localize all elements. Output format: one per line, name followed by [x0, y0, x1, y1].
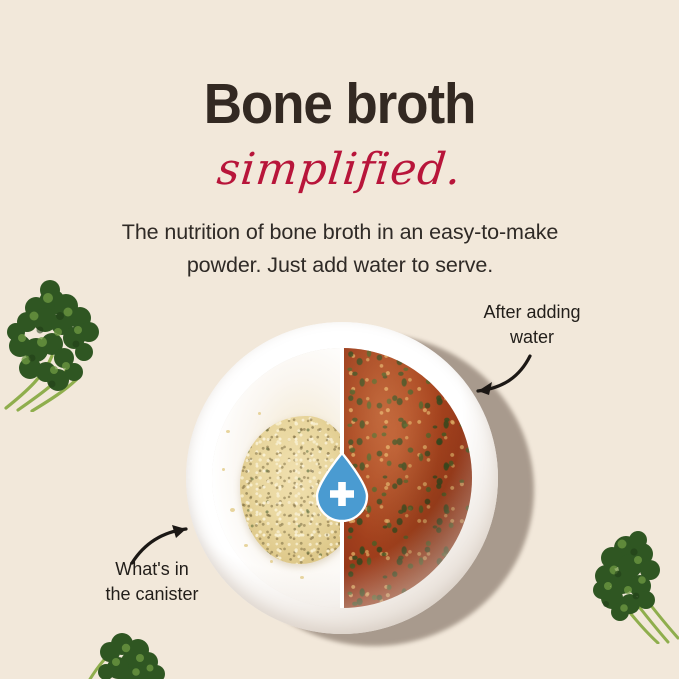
- curved-arrow-up-right-icon: [128, 522, 204, 568]
- curly-parsley-sprig-left: [0, 272, 114, 412]
- curved-arrow-down-left-icon: [458, 352, 536, 400]
- curly-parsley-sprig-right: [592, 524, 679, 644]
- page-title: Bone broth: [24, 74, 655, 134]
- subhead-description: The nutrition of bone broth in an easy-t…: [90, 216, 590, 282]
- page-subtitle-script: simplified.: [0, 142, 679, 198]
- callout-after-adding-water: After adding water: [452, 300, 612, 350]
- curly-parsley-sprig-bottom: [82, 628, 192, 679]
- water-drop-plus-icon[interactable]: [314, 452, 370, 522]
- promo-image-canvas: Bone broth simplified. The nutrition of …: [0, 0, 679, 679]
